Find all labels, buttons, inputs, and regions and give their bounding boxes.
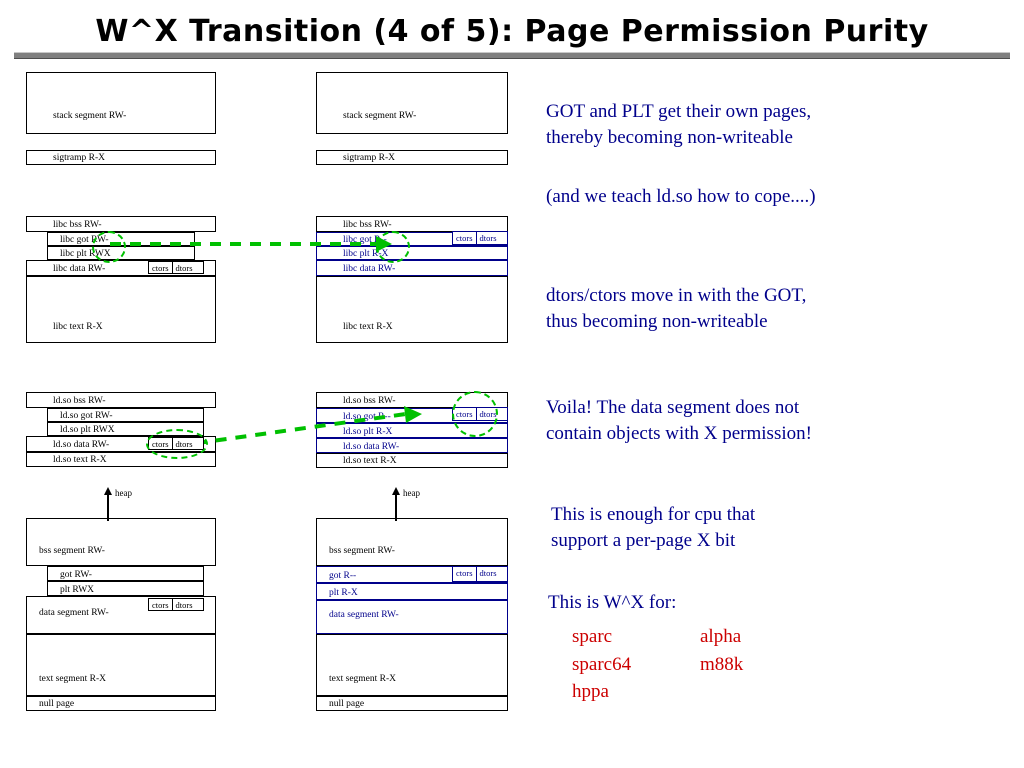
before-ldso-got-label: ld.so got RW- [60,412,113,422]
before-got-label: got RW- [60,571,92,581]
ldso-transition-arrow [176,400,476,456]
before-sigtramp: sigtramp R-X [26,150,216,165]
after-ldso-ctors-dtors: ctors dtors [452,407,508,421]
before-libc-dtors-label: dtors [172,262,196,273]
after-stack-label: stack segment RW- [343,112,416,122]
before-program-ctors-dtors: ctors dtors [148,598,204,611]
after-program-ctors-dtors: ctors dtors [452,566,508,582]
architecture-list: sparc alpha sparc64 m88k hppa [572,623,743,706]
after-plt: plt R-X [316,583,508,600]
before-ldso-dtors-label: dtors [172,438,196,449]
after-heap-label: heap [403,488,420,498]
before-stack-label: stack segment RW- [53,112,126,122]
after-libc-data-label: libc data RW- [343,265,395,275]
after-null-page-label: null page [329,700,364,710]
ldso-arrow-line [176,414,406,446]
before-null-page: null page [26,696,216,711]
heap-arrow-shaft [107,493,109,521]
after-bss-segment: bss segment RW- [316,518,508,566]
after-heap-arrow: heap [392,487,452,523]
after-libc-bss-label: libc bss RW- [343,221,392,231]
before-ldso-ctors-dtors: ctors dtors [148,437,204,450]
before-data-label: data segment RW- [39,609,109,619]
before-got: got RW- [47,566,204,581]
after-plt-label: plt R-X [329,589,358,599]
after-text-segment: text segment R-X [316,634,508,696]
heap-arrow-shaft [395,493,397,521]
before-program-dtors-label: dtors [172,599,196,610]
before-heap-arrow: heap [104,487,164,523]
before-sigtramp-label: sigtramp R-X [53,154,105,164]
arch-right: alpha [700,623,741,651]
before-bss-segment: bss segment RW- [26,518,216,566]
after-libc-data: libc data RW- [316,260,508,276]
before-text-segment: text segment R-X [26,634,216,696]
before-plt: plt RWX [47,581,204,596]
before-libc-ctors-label: ctors [149,262,172,273]
after-sigtramp: sigtramp R-X [316,150,508,165]
note-this-is-wx-for: This is W^X for: [548,590,988,616]
before-libc-text: libc text R-X [26,276,216,343]
before-bss-label: bss segment RW- [39,547,105,557]
note-per-page-x-bit: This is enough for cpu that support a pe… [551,502,991,553]
before-stack-segment: stack segment RW- [26,72,216,134]
arch-right: m88k [700,651,743,679]
before-ldso-plt-label: ld.so plt RWX [60,426,115,436]
after-sigtramp-label: sigtramp R-X [343,154,395,164]
ldso-arrowhead-icon [404,406,422,423]
before-heap-label: heap [115,488,132,498]
before-null-page-label: null page [39,700,74,710]
before-text-label: text segment R-X [39,675,106,685]
after-stack-segment: stack segment RW- [316,72,508,134]
libc-transition-arrow [110,232,400,256]
after-text-label: text segment R-X [329,675,396,685]
before-program-ctors-label: ctors [149,599,172,610]
before-libc-ctors-dtors: ctors dtors [148,261,204,274]
after-data-segment: data segment RW- [316,600,508,634]
arch-row: sparc alpha [572,623,743,651]
after-program-ctors-label: ctors [453,567,476,581]
after-data-label: data segment RW- [329,611,399,621]
title-divider [14,52,1010,59]
note-got-plt-own-pages: GOT and PLT get their own pages, thereby… [546,99,986,150]
before-libc-got-label: libc got RW- [60,236,109,246]
before-libc-data-label: libc data RW- [53,265,105,275]
after-ldso-text-label: ld.so text R-X [343,457,397,467]
after-null-page: null page [316,696,508,711]
after-ldso-dtors-label: dtors [476,408,500,420]
arch-left: sparc64 [572,651,700,679]
arch-row: sparc64 m88k [572,651,743,679]
before-libc-bss-label: libc bss RW- [53,221,102,231]
note-dtors-ctors-move: dtors/ctors move in with the GOT, thus b… [546,283,986,334]
arch-left: sparc [572,623,700,651]
arch-row: hppa [572,678,743,706]
before-ldso-data-label: ld.so data RW- [53,441,109,451]
after-libc-ctors-label: ctors [453,232,476,244]
after-libc-dtors-label: dtors [476,232,500,244]
after-libc-text: libc text R-X [316,276,508,343]
before-ldso-ctors-label: ctors [149,438,172,449]
note-voila-data-segment: Voila! The data segment does not contain… [546,395,986,446]
before-libc-plt-label: libc plt RWX [60,250,111,260]
after-bss-label: bss segment RW- [329,547,395,557]
before-ldso-bss-label: ld.so bss RW- [53,397,106,407]
page-title: W^X Transition (4 of 5): Page Permission… [0,14,1024,49]
after-libc-bss: libc bss RW- [316,216,508,232]
after-got-label: got R-- [329,572,356,582]
before-plt-label: plt RWX [60,586,94,596]
after-libc-ctors-dtors: ctors dtors [452,231,508,245]
before-libc-text-label: libc text R-X [53,323,103,333]
after-ldso-ctors-label: ctors [453,408,476,420]
note-ldso-cope: (and we teach ld.so how to cope....) [546,184,986,210]
arch-left: hppa [572,678,700,706]
before-ldso-text-label: ld.so text R-X [53,456,107,466]
libc-arrowhead-icon [376,236,392,252]
after-libc-text-label: libc text R-X [343,323,393,333]
before-libc-bss: libc bss RW- [26,216,216,232]
after-program-dtors-label: dtors [476,567,500,581]
